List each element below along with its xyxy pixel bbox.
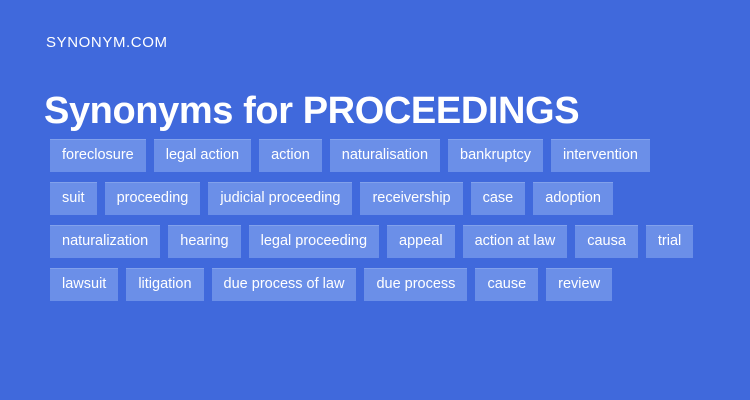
synonym-chip[interactable]: cause	[475, 268, 538, 301]
synonym-chip-list: foreclosurelegal actionactionnaturalisat…	[50, 139, 730, 311]
synonym-chip[interactable]: adoption	[533, 182, 613, 215]
synonym-row: foreclosurelegal actionactionnaturalisat…	[50, 139, 730, 172]
synonym-chip[interactable]: due process of law	[212, 268, 357, 301]
page-title: Synonyms for PROCEEDINGS	[44, 87, 579, 135]
synonym-chip[interactable]: due process	[364, 268, 467, 301]
synonym-chip[interactable]: bankruptcy	[448, 139, 543, 172]
synonym-chip[interactable]: judicial proceeding	[208, 182, 352, 215]
synonym-chip[interactable]: suit	[50, 182, 97, 215]
synonym-chip[interactable]: review	[546, 268, 612, 301]
synonym-chip[interactable]: case	[471, 182, 526, 215]
synonym-chip[interactable]: receivership	[360, 182, 462, 215]
synonym-chip[interactable]: causa	[575, 225, 638, 258]
synonym-chip[interactable]: legal proceeding	[249, 225, 379, 258]
synonym-chip[interactable]: action at law	[463, 225, 568, 258]
synonym-chip[interactable]: naturalisation	[330, 139, 440, 172]
synonym-chip[interactable]: foreclosure	[50, 139, 146, 172]
synonyms-page: SYNONYM.COM Synonyms for PROCEEDINGS for…	[0, 0, 750, 400]
synonym-chip[interactable]: action	[259, 139, 322, 172]
synonym-chip[interactable]: hearing	[168, 225, 240, 258]
synonym-chip[interactable]: naturalization	[50, 225, 160, 258]
synonym-chip[interactable]: legal action	[154, 139, 251, 172]
synonym-chip[interactable]: proceeding	[105, 182, 201, 215]
site-brand: SYNONYM.COM	[46, 33, 168, 53]
synonym-chip[interactable]: intervention	[551, 139, 650, 172]
synonym-chip[interactable]: lawsuit	[50, 268, 118, 301]
synonym-chip[interactable]: trial	[646, 225, 693, 258]
synonym-row: naturalizationhearinglegal proceedingapp…	[50, 225, 730, 258]
synonym-row: suitproceedingjudicial proceedingreceive…	[50, 182, 730, 215]
synonym-chip[interactable]: appeal	[387, 225, 455, 258]
synonym-chip[interactable]: litigation	[126, 268, 203, 301]
synonym-row: lawsuitlitigationdue process of lawdue p…	[50, 268, 730, 301]
